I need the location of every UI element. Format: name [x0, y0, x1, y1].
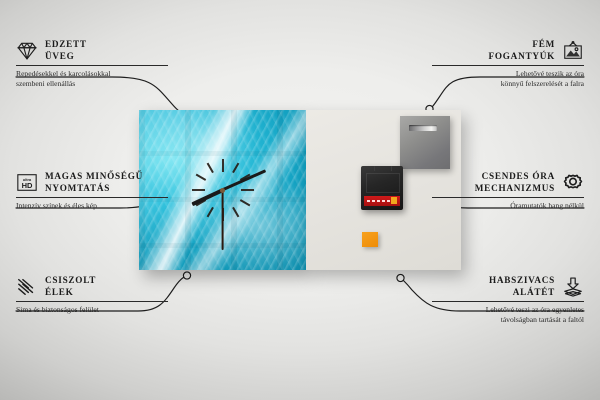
ultra-hd-icon: ultra HD: [16, 172, 38, 193]
feature-silent-mechanism: CSENDES ÓRA MECHANIZMUS Óramutatók hang …: [432, 171, 584, 211]
feature-divider: [16, 301, 168, 302]
mechanism-hanger-loop: [374, 166, 392, 171]
feature-title: CSISZOLT ÉLEK: [45, 275, 96, 298]
feature-description: Lehetővé teszi az óra egyenletes távolsá…: [432, 305, 584, 324]
feature-description: Óramutatók hang nélkül: [432, 201, 584, 211]
feature-description: Repedésekkel és karcolásokkal szembeni e…: [16, 69, 168, 88]
mechanism-battery-label: [364, 196, 400, 206]
polished-edges-icon: [16, 276, 38, 297]
feature-foam-spacer: HABSZIVACS ALÁTÉT Lehetővé teszi az óra …: [432, 275, 584, 324]
diamond-icon: [16, 40, 38, 61]
feature-metal-handles: FÉM FOGANTYÚK Lehetővé teszik az óra kön…: [432, 39, 584, 88]
feature-title: EDZETT ÜVEG: [45, 39, 87, 62]
feature-high-quality-print: ultra HD MAGAS MINŐSÉGŰ NYOMTATÁS Intenz…: [16, 171, 168, 211]
feature-header: CSENDES ÓRA MECHANIZMUS: [432, 171, 584, 194]
gear-icon: [562, 172, 584, 193]
feature-tempered-glass: EDZETT ÜVEG Repedésekkel és karcolásokka…: [16, 39, 168, 88]
quartz-clock-mechanism: [361, 166, 403, 210]
feature-description: Sima és biztonságos felület: [16, 305, 168, 315]
feature-description: Intenzív színek és éles kép: [16, 201, 168, 211]
picture-hanger-icon: [562, 40, 584, 61]
clock-second-hand: [222, 190, 224, 250]
feature-title: HABSZIVACS ALÁTÉT: [489, 275, 555, 298]
feature-header: ultra HD MAGAS MINŐSÉGŰ NYOMTATÁS: [16, 171, 168, 194]
clock-center-cap: [220, 188, 225, 193]
metal-hanger-plate: [400, 116, 450, 169]
feature-title: CSENDES ÓRA MECHANIZMUS: [475, 171, 555, 194]
feature-divider: [16, 65, 168, 66]
mechanism-seam: [366, 173, 400, 193]
feature-header: EDZETT ÜVEG: [16, 39, 168, 62]
foam-pad-arrow-icon: [562, 276, 584, 297]
feature-title: MAGAS MINŐSÉGŰ NYOMTATÁS: [45, 171, 143, 194]
feature-divider: [432, 65, 584, 66]
svg-text:HD: HD: [22, 181, 33, 190]
hanger-slot: [409, 125, 437, 131]
feature-header: CSISZOLT ÉLEK: [16, 275, 168, 298]
feature-header: HABSZIVACS ALÁTÉT: [432, 275, 584, 298]
product-composite: [139, 110, 461, 270]
infographic-canvas: EDZETT ÜVEG Repedésekkel és karcolásokka…: [0, 0, 600, 400]
foam-spacer-pad: [362, 232, 378, 247]
feature-title: FÉM FOGANTYÚK: [489, 39, 555, 62]
feature-divider: [16, 197, 168, 198]
feature-divider: [432, 197, 584, 198]
feature-description: Lehetővé teszik az óra könnyű felszerelé…: [432, 69, 584, 88]
feature-divider: [432, 301, 584, 302]
feature-polished-edges: CSISZOLT ÉLEK Sima és biztonságos felüle…: [16, 275, 168, 315]
feature-header: FÉM FOGANTYÚK: [432, 39, 584, 62]
